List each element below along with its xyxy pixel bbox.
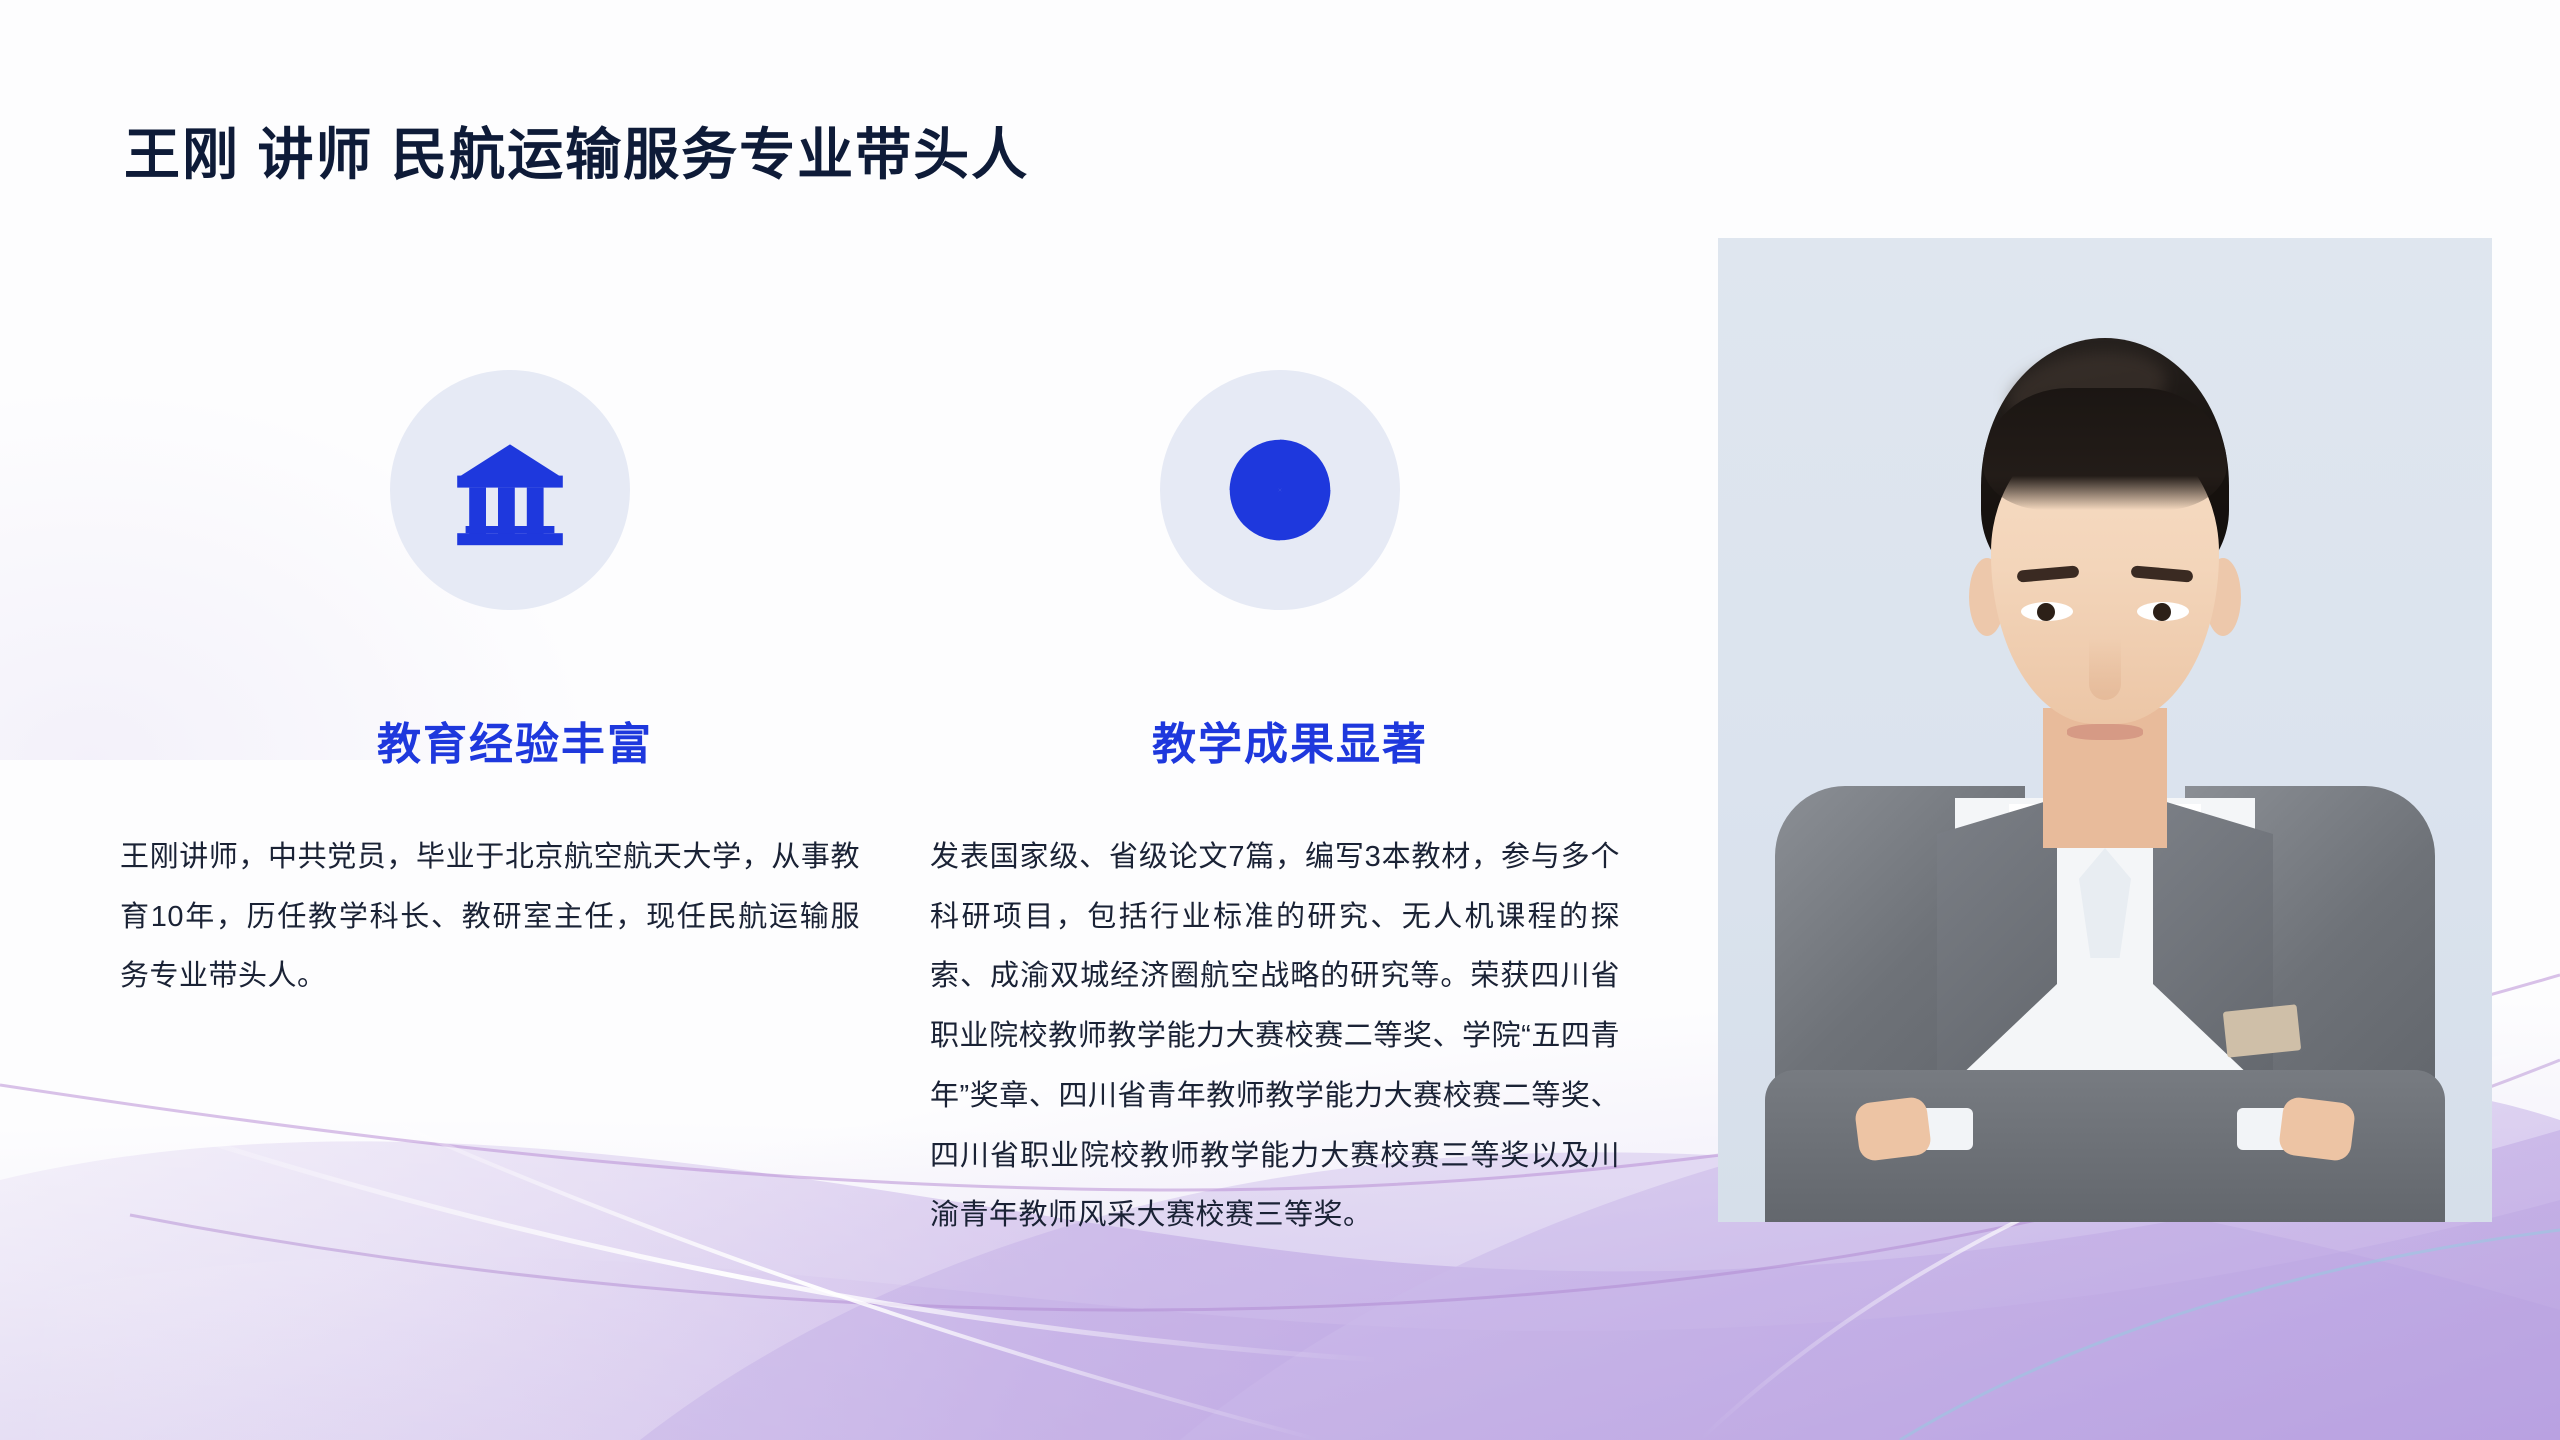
column-body-text: 发表国家级、省级论文7篇，编写3本教材，参与多个科研项目，包括行业标准的研究、无… [930,828,1620,1246]
bank-classical-building-icon [390,370,630,610]
wave-highlight-4 [1900,1230,2560,1440]
camera-aperture-icon [1160,370,1400,610]
column-heading: 教学成果显著 [930,708,1650,772]
pocket-square [2223,1004,2301,1057]
slide-root: 王刚 讲师 民航运输服务专业带头人 教育经验丰富 王刚讲师，中共党员，毕业于北京… [0,0,2560,1440]
page-title: 王刚 讲师 民航运输服务专业带头人 [124,110,1029,191]
column-heading: 教育经验丰富 [120,708,880,772]
column-body-text: 王刚讲师，中共党员，毕业于北京航空航天大学，从事教育10年，历任教学科长、教研室… [120,828,860,1007]
feature-column-education: 教育经验丰富 王刚讲师，中共党员，毕业于北京航空航天大学，从事教育10年，历任教… [120,370,880,1007]
hand-left [2278,1096,2357,1162]
eye-right [2137,602,2189,621]
eye-left [2021,602,2073,621]
mouth [2067,724,2143,740]
hair-fringe [1983,388,2227,510]
hand-right [1854,1096,1933,1162]
bank-classical-building-glyph [450,430,570,550]
portrait-photo [1718,238,2492,1222]
feature-column-achievements: 教学成果显著 发表国家级、省级论文7篇，编写3本教材，参与多个科研项目，包括行业… [930,370,1650,1246]
camera-aperture-glyph [1220,430,1340,550]
nose [2089,638,2121,700]
